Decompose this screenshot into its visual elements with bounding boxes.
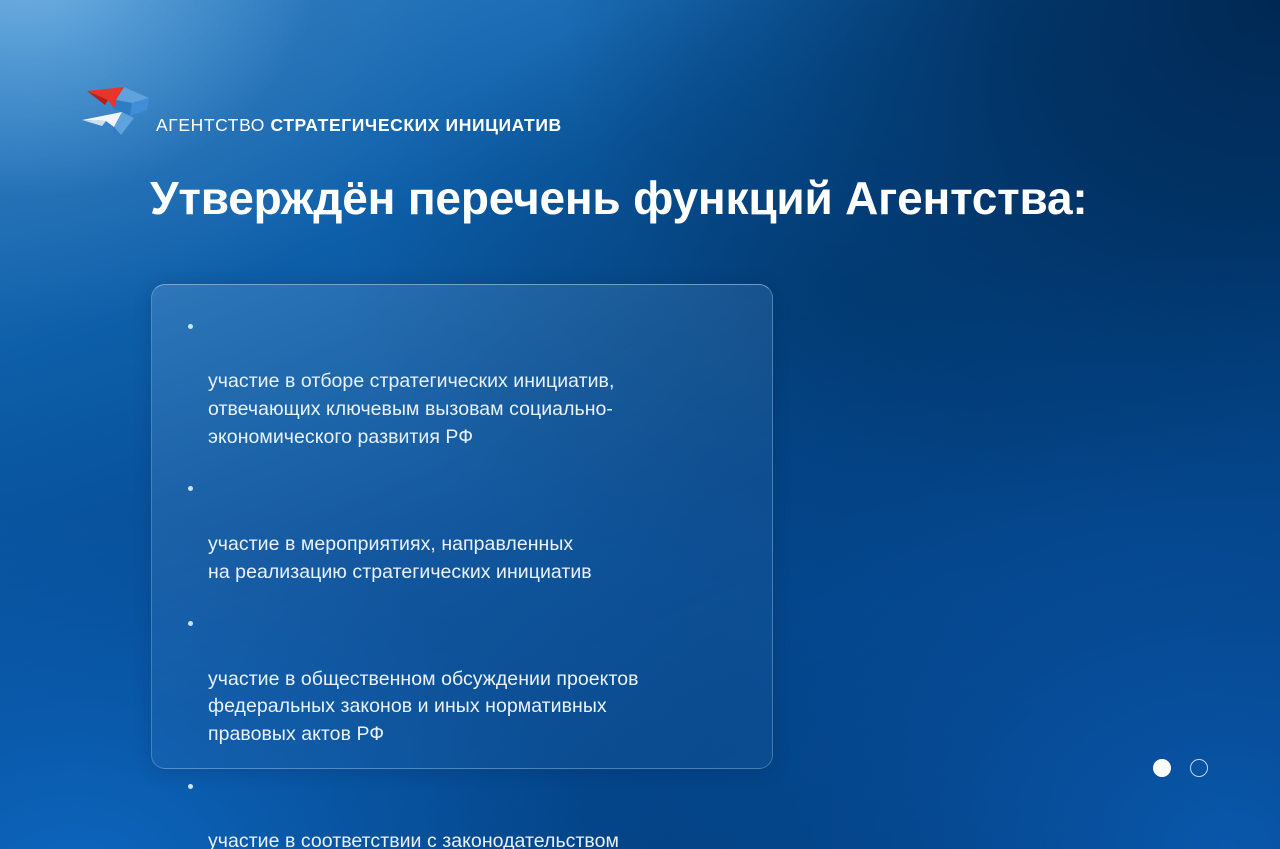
- paper-plane-arrow-logo-icon: [78, 78, 150, 140]
- slide-title: Утверждён перечень функций Агентства:: [150, 172, 1150, 225]
- functions-card: участие в отборе стратегических инициати…: [151, 284, 773, 769]
- bullet-dot-icon: [188, 324, 193, 329]
- brand-logo: АГЕНТСТВО СТРАТЕГИЧЕСКИХ ИНИЦИАТИВ: [78, 68, 562, 140]
- bullet-dot-icon: [188, 784, 193, 789]
- functions-list: участие в отборе стратегических инициати…: [186, 313, 738, 849]
- list-item: участие в соответствии с законодательств…: [186, 773, 738, 849]
- list-item-text: участие в отборе стратегических инициати…: [208, 370, 614, 447]
- list-item-text: участие в соответствии с законодательств…: [208, 830, 619, 849]
- slide-canvas: АГЕНТСТВО СТРАТЕГИЧЕСКИХ ИНИЦИАТИВ Утвер…: [0, 0, 1280, 849]
- bullet-dot-icon: [188, 621, 193, 626]
- list-item-text: участие в мероприятиях, направленных на …: [208, 533, 592, 583]
- list-item-text: участие в общественном обсуждении проект…: [208, 668, 639, 745]
- slide-pagination[interactable]: [1153, 759, 1208, 777]
- bullet-dot-icon: [188, 486, 193, 491]
- pagination-dot-1[interactable]: [1153, 759, 1171, 777]
- pagination-dot-2[interactable]: [1190, 759, 1208, 777]
- list-item: участие в общественном обсуждении проект…: [186, 610, 738, 748]
- list-item: участие в отборе стратегических инициати…: [186, 313, 738, 451]
- brand-name-light: АГЕНТСТВО: [156, 115, 265, 135]
- brand-logo-text: АГЕНТСТВО СТРАТЕГИЧЕСКИХ ИНИЦИАТИВ: [156, 117, 562, 141]
- brand-name-bold: СТРАТЕГИЧЕСКИХ ИНИЦИАТИВ: [270, 115, 561, 135]
- list-item: участие в мероприятиях, направленных на …: [186, 475, 738, 586]
